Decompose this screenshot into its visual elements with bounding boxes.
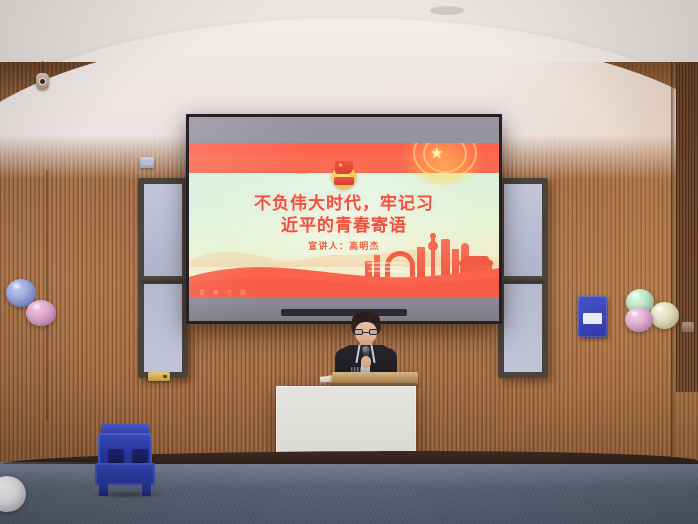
wall-plate bbox=[682, 322, 694, 332]
sliding-whiteboard-left[interactable] bbox=[138, 178, 188, 378]
slide-title-line-1: 不负伟大时代，牢记习 bbox=[189, 193, 499, 215]
whiteboard-rail bbox=[141, 276, 185, 283]
stool-leg-left bbox=[99, 482, 108, 496]
stool-upper-body bbox=[98, 433, 152, 467]
presentation-slide: ★ bbox=[189, 143, 499, 303]
whiteboard-pane-lower[interactable] bbox=[144, 284, 182, 372]
sliding-whiteboard-right[interactable] bbox=[498, 178, 548, 378]
stool-cutout-right bbox=[132, 449, 148, 463]
ceiling-vent bbox=[430, 6, 464, 15]
stool-leg-right bbox=[142, 482, 151, 496]
whiteboard-pane-upper[interactable] bbox=[504, 184, 542, 284]
lecture-hall-photo: ★ bbox=[0, 0, 698, 524]
switch-rocker[interactable] bbox=[143, 160, 151, 165]
balloon-pink-left bbox=[26, 300, 56, 326]
marker bbox=[163, 375, 167, 378]
slide-subtitle: 宣讲人：高明杰 bbox=[189, 239, 499, 252]
wall-side-return bbox=[676, 62, 698, 392]
wall-notice-board[interactable] bbox=[578, 296, 607, 337]
sensor-lens bbox=[40, 79, 45, 84]
wall-corner-edge bbox=[671, 62, 676, 462]
wall-panel-seam bbox=[46, 170, 50, 420]
whiteboard-rail bbox=[501, 276, 545, 283]
slide-title: 不负伟大时代，牢记习 近平的青春寄语 bbox=[189, 193, 499, 237]
slide-title-line-2: 近平的青春寄语 bbox=[189, 215, 499, 237]
lens-right bbox=[369, 329, 378, 335]
projection-screen-frame: ★ bbox=[186, 114, 502, 324]
projection-screen: ★ bbox=[189, 117, 499, 321]
sensor-cord bbox=[42, 61, 43, 72]
whiteboard-marker-tray bbox=[148, 372, 170, 381]
notice-sheet bbox=[583, 313, 602, 324]
wall-light-switch[interactable] bbox=[140, 157, 154, 168]
balloon-cream bbox=[650, 302, 679, 329]
whiteboard-pane-upper[interactable] bbox=[144, 184, 182, 284]
lens-left bbox=[354, 329, 363, 335]
eyeglasses-icon bbox=[354, 329, 378, 335]
wall-sensor-icon bbox=[36, 71, 49, 90]
whiteboard-pane-lower[interactable] bbox=[504, 284, 542, 372]
balloon-pink-right bbox=[625, 307, 653, 332]
stacked-blue-plastic-stools bbox=[95, 424, 155, 496]
microphone-head-icon bbox=[362, 346, 370, 353]
stool-cutout-left bbox=[108, 449, 124, 463]
presenter-hand bbox=[361, 356, 371, 368]
